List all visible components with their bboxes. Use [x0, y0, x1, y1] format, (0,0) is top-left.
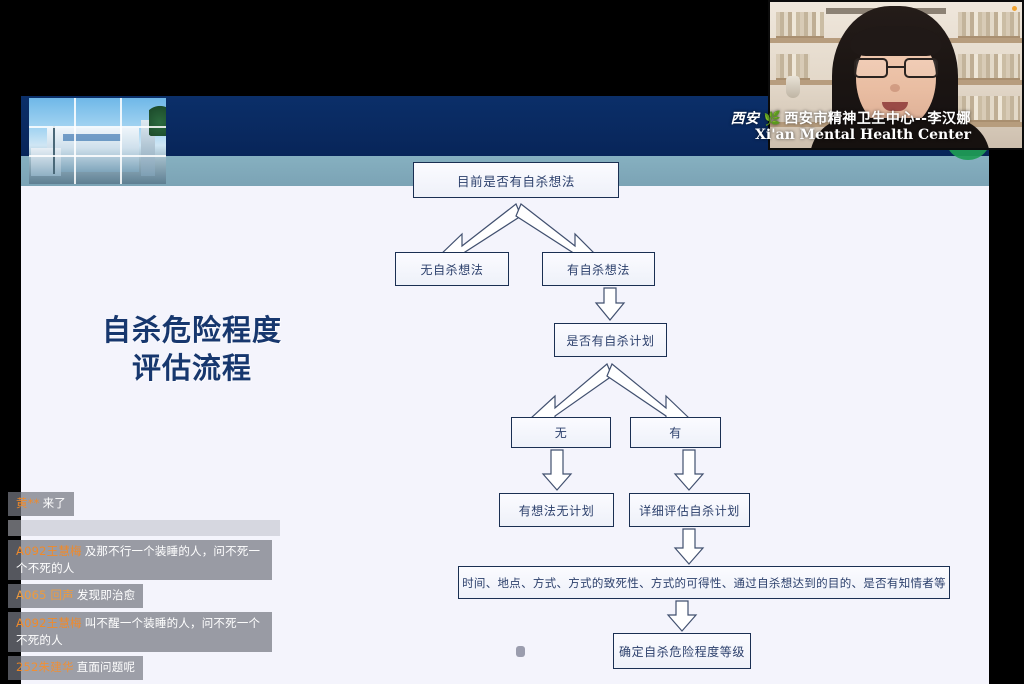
watermark-xian-logo-text: 西安 — [730, 111, 759, 127]
speaker-bangs — [850, 26, 942, 56]
flow-node-yes[interactable]: 有 — [630, 417, 721, 448]
leaf-icon: 🌿 — [763, 111, 781, 127]
flow-node-assessment-dimensions[interactable]: 时间、地点、方式、方式的致死性、方式的可得性、通过自杀想达到的目的、是否有知情者… — [458, 566, 950, 599]
watermark-cn-text: 西安🌿西安市精神卫生中心--李汉娜 — [730, 112, 971, 128]
chat-text: 直面问题呢 — [77, 660, 136, 674]
flow-node-has-suicide-plan-question[interactable]: 是否有自杀计划 — [554, 323, 667, 357]
chat-message-placeholder — [8, 520, 280, 536]
recording-indicator-icon — [1012, 6, 1017, 11]
list-item: A092王慧梅叫不醒一个装睡的人，问不死一个不死的人 — [8, 612, 272, 652]
chat-text: 来了 — [43, 496, 66, 510]
flow-node-current-suicidal-thoughts[interactable]: 目前是否有自杀想法 — [413, 162, 619, 198]
decor-vase — [786, 76, 800, 98]
arrow-down-1 — [596, 288, 624, 320]
chat-text: 发现即治愈 — [77, 588, 136, 602]
flow-node-no-suicidal-thoughts[interactable]: 无自杀想法 — [395, 252, 509, 286]
chat-username: A092王慧梅 — [16, 616, 82, 630]
list-item: 252朱建华直面问题呢 — [8, 656, 143, 680]
list-item: A065 回声发现即治愈 — [8, 584, 143, 608]
books-group-1 — [776, 12, 824, 38]
list-item: A092王慧梅及那不行一个装睡的人，问不死一个不死的人 — [8, 540, 272, 580]
title-line-1: 自杀危险程度 — [102, 313, 282, 347]
arrow-down-5 — [668, 601, 696, 631]
chat-message-join: 黄**来了 — [8, 492, 74, 516]
letterbox-right — [989, 150, 1024, 684]
hospital-building-photo — [29, 98, 166, 184]
speaker-nose — [890, 84, 900, 92]
mouse-cursor-dot — [516, 646, 525, 657]
chat-username: 黄** — [16, 496, 40, 510]
chat-username: 252朱建华 — [16, 660, 74, 674]
page-title: 自杀危险程度 评估流程 — [77, 311, 307, 388]
title-line-2: 评估流程 — [77, 349, 307, 387]
flow-node-thoughts-without-plan[interactable]: 有想法无计划 — [499, 493, 614, 527]
chat-overlay[interactable]: 黄**来了 A092王慧梅及那不行一个装睡的人，问不死一个不死的人 A065 回… — [0, 488, 280, 684]
flow-node-no[interactable]: 无 — [511, 417, 611, 448]
flow-node-has-suicidal-thoughts[interactable]: 有自杀想法 — [542, 252, 655, 286]
flow-node-detailed-plan-assessment[interactable]: 详细评估自杀计划 — [629, 493, 750, 527]
letterbox-top — [0, 0, 768, 96]
chat-username: A065 回声 — [16, 588, 74, 602]
books-group-3 — [958, 54, 1020, 80]
chat-username: A092王慧梅 — [16, 544, 82, 558]
arrow-down-3 — [675, 450, 703, 490]
watermark-en-label: Xi'an Mental Health Center — [730, 128, 971, 144]
arrow-down-2 — [543, 450, 571, 490]
watermark: 西安🌿西安市精神卫生中心--李汉娜 Xi'an Mental Health Ce… — [730, 112, 971, 143]
glasses-icon — [854, 58, 938, 78]
arrow-down-4 — [675, 529, 703, 564]
books-group-2 — [958, 12, 1020, 38]
livestream-screen: 西安🌿西安市精神卫生中心--李汉娜 Xi'an Mental Health Ce… — [0, 0, 1024, 684]
watermark-cn-label: 西安市精神卫生中心--李汉娜 — [784, 111, 971, 127]
flow-node-determine-risk-level[interactable]: 确定自杀危险程度等级 — [613, 633, 751, 669]
